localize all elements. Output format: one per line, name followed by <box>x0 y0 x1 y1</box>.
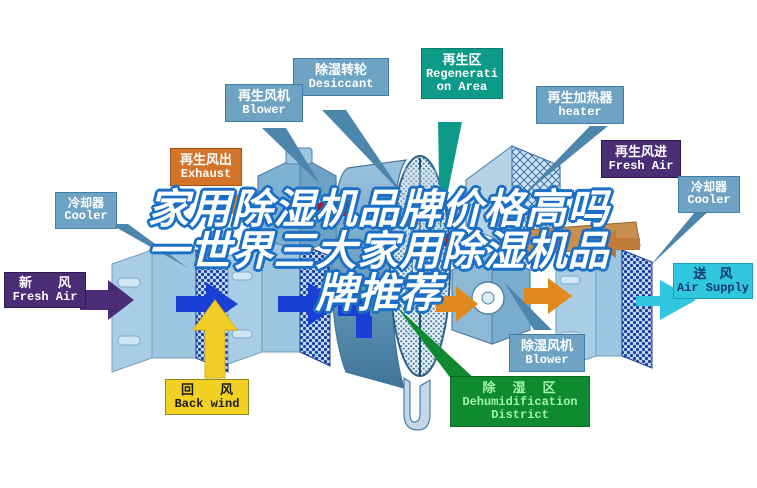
condensate-outlet <box>404 378 430 430</box>
label-air-supply-en: Air Supply <box>677 282 749 295</box>
label-cooler-right-en: Cooler <box>682 194 736 207</box>
label-desiccant[interactable]: 除湿转轮 Desiccant <box>293 58 389 96</box>
label-cooler-right-cn: 冷却器 <box>682 181 736 194</box>
label-dehu-district-en-2: District <box>454 409 586 422</box>
label-dehu-blower-en: Blower <box>513 354 581 367</box>
label-fresh-air-en: Fresh Air <box>8 291 82 304</box>
label-air-supply-cn: 送 风 <box>677 267 749 282</box>
label-regeneration-area[interactable]: 再生区 Regenerati on Area <box>421 48 503 99</box>
label-regen-heater-cn: 再生加热器 <box>540 91 620 106</box>
label-cooler-left-cn: 冷却器 <box>59 197 113 210</box>
label-cooler-left[interactable]: 冷却器 Cooler <box>55 192 117 229</box>
label-regen-out-en: Exhaust <box>174 168 238 181</box>
label-dehu-district-en-1: Dehumidification <box>454 396 586 409</box>
label-cooler-left-en: Cooler <box>59 210 113 223</box>
label-dehumidification-district[interactable]: 除 湿 区 Dehumidification District <box>450 376 590 427</box>
label-regeneration-exhaust[interactable]: 再生风出 Exhaust <box>170 148 242 186</box>
label-regeneration-heater[interactable]: 再生加热器 heater <box>536 86 624 124</box>
label-regen-area-en-1: Regenerati <box>425 68 499 81</box>
label-back-wind[interactable]: 回 风 Back wind <box>165 379 249 415</box>
label-dehumidification-blower[interactable]: 除湿风机 Blower <box>509 334 585 372</box>
label-desiccant-cn: 除湿转轮 <box>297 63 385 78</box>
label-air-supply[interactable]: 送 风 Air Supply <box>673 263 753 299</box>
label-desiccant-en: Desiccant <box>297 78 385 91</box>
label-regen-blower-en: Blower <box>229 104 299 117</box>
label-fresh-air[interactable]: 新 风 Fresh Air <box>4 272 86 308</box>
label-regeneration-blower[interactable]: 再生风机 Blower <box>225 84 303 122</box>
label-regen-in-cn: 再生风进 <box>605 145 677 160</box>
label-regeneration-fresh-air[interactable]: 再生风进 Fresh Air <box>601 140 681 178</box>
label-back-wind-en: Back wind <box>169 398 245 411</box>
label-dehu-blower-cn: 除湿风机 <box>513 339 581 354</box>
label-fresh-air-cn: 新 风 <box>8 276 82 291</box>
label-regen-area-en-2: on Area <box>425 81 499 94</box>
label-regen-heater-en: heater <box>540 106 620 119</box>
label-cooler-right[interactable]: 冷却器 Cooler <box>678 176 740 213</box>
label-regen-out-cn: 再生风出 <box>174 153 238 168</box>
label-regen-in-en: Fresh Air <box>605 160 677 173</box>
label-dehu-district-cn: 除 湿 区 <box>454 381 586 396</box>
label-regen-area-cn: 再生区 <box>425 53 499 68</box>
label-regen-blower-cn: 再生风机 <box>229 89 299 104</box>
diagram-canvas: xh <box>0 0 757 488</box>
label-back-wind-cn: 回 风 <box>169 383 245 398</box>
